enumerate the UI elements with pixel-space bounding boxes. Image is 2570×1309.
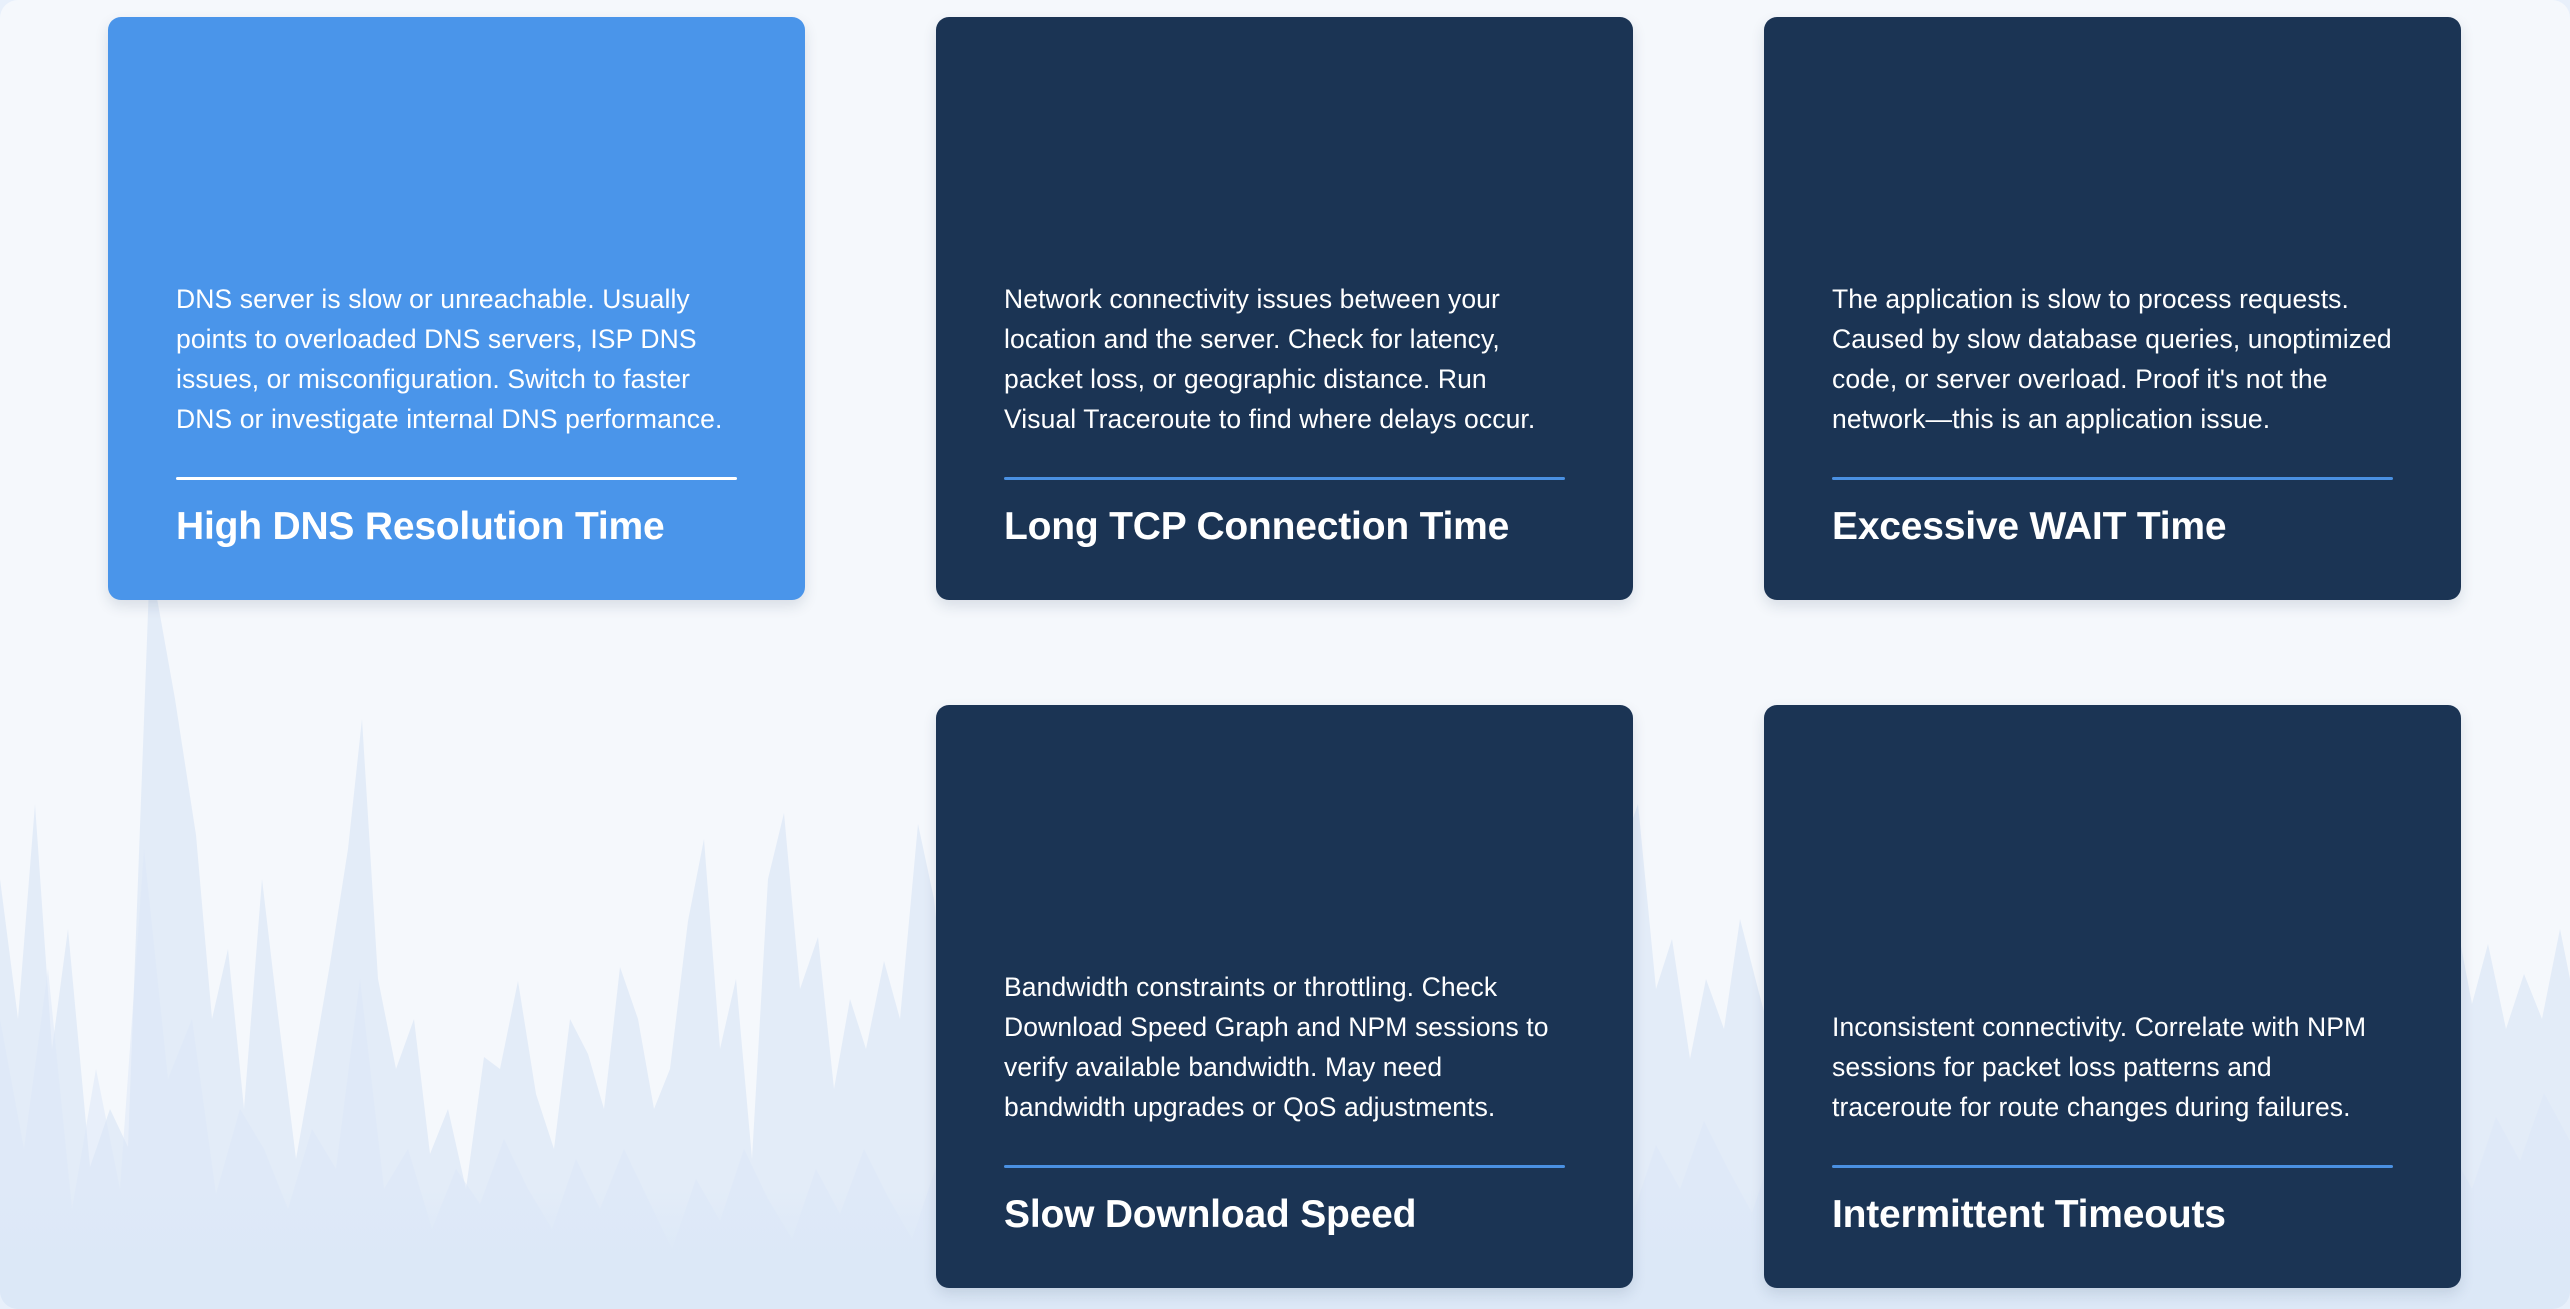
card-description: DNS server is slow or unreachable. Usual… [176, 279, 737, 439]
card-description: Bandwidth constraints or throttling. Che… [1004, 967, 1565, 1127]
card-title: High DNS Resolution Time [176, 498, 737, 556]
empty-grid-slot [108, 705, 805, 1288]
card-title: Excessive WAIT Time [1832, 498, 2393, 556]
card-divider [1832, 1165, 2393, 1168]
card-description: The application is slow to process reque… [1832, 279, 2393, 439]
page-container: DNS server is slow or unreachable. Usual… [0, 0, 2570, 1309]
card-title: Slow Download Speed [1004, 1186, 1565, 1244]
card-divider [1004, 1165, 1565, 1168]
card-description: Inconsistent connectivity. Correlate wit… [1832, 1007, 2393, 1127]
card-excessive-wait-time[interactable]: The application is slow to process reque… [1764, 17, 2461, 600]
card-title: Intermittent Timeouts [1832, 1186, 2393, 1244]
card-title: Long TCP Connection Time [1004, 498, 1565, 556]
card-high-dns-resolution-time[interactable]: DNS server is slow or unreachable. Usual… [108, 17, 805, 600]
card-description: Network connectivity issues between your… [1004, 279, 1565, 439]
card-divider [1004, 477, 1565, 480]
diagnostic-card-grid: DNS server is slow or unreachable. Usual… [108, 17, 2460, 1288]
card-divider [176, 477, 737, 480]
card-divider [1832, 477, 2393, 480]
card-long-tcp-connection-time[interactable]: Network connectivity issues between your… [936, 17, 1633, 600]
card-intermittent-timeouts[interactable]: Inconsistent connectivity. Correlate wit… [1764, 705, 2461, 1288]
card-slow-download-speed[interactable]: Bandwidth constraints or throttling. Che… [936, 705, 1633, 1288]
